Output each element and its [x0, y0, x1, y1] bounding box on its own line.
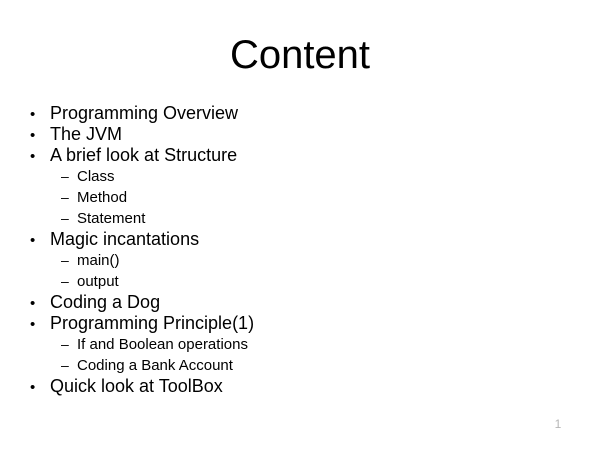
- list-item-label: The JVM: [50, 124, 122, 145]
- sub-list-item: –If and Boolean operations: [30, 334, 570, 355]
- list-item-label: Magic incantations: [50, 229, 199, 250]
- sub-list-item: –Class: [30, 166, 570, 187]
- list-item: •Quick look at ToolBox: [30, 376, 570, 397]
- dash-icon: –: [61, 271, 77, 292]
- bullet-icon: •: [30, 377, 50, 398]
- list-item-label: A brief look at Structure: [50, 145, 237, 166]
- list-item-label: Coding a Bank Account: [77, 355, 233, 376]
- list-item-label: If and Boolean operations: [77, 334, 248, 355]
- list-item-label: Programming Principle(1): [50, 313, 254, 334]
- list-item-label: output: [77, 271, 119, 292]
- page-title: Content: [0, 32, 600, 78]
- list-item: •Programming Principle(1): [30, 313, 570, 334]
- list-item: •A brief look at Structure: [30, 145, 570, 166]
- list-item-label: Quick look at ToolBox: [50, 376, 223, 397]
- list-item-label: Class: [77, 166, 115, 187]
- dash-icon: –: [61, 208, 77, 229]
- slide-page-number: 1: [548, 417, 568, 431]
- dash-icon: –: [61, 355, 77, 376]
- bullet-icon: •: [30, 293, 50, 314]
- presentation-slide: Content •Programming Overview•The JVM•A …: [0, 0, 600, 450]
- dash-icon: –: [61, 187, 77, 208]
- bullet-icon: •: [30, 125, 50, 146]
- list-item-label: Statement: [77, 208, 145, 229]
- content-outline-list: •Programming Overview•The JVM•A brief lo…: [30, 103, 570, 397]
- bullet-icon: •: [30, 104, 50, 125]
- sub-list-item: –Method: [30, 187, 570, 208]
- list-item: •Coding a Dog: [30, 292, 570, 313]
- list-item-label: Method: [77, 187, 127, 208]
- list-item-label: Programming Overview: [50, 103, 238, 124]
- list-item: •The JVM: [30, 124, 570, 145]
- bullet-icon: •: [30, 314, 50, 335]
- dash-icon: –: [61, 250, 77, 271]
- list-item-label: Coding a Dog: [50, 292, 160, 313]
- list-item: •Programming Overview: [30, 103, 570, 124]
- sub-list-item: –Statement: [30, 208, 570, 229]
- dash-icon: –: [61, 166, 77, 187]
- bullet-icon: •: [30, 230, 50, 251]
- sub-list-item: –output: [30, 271, 570, 292]
- bullet-icon: •: [30, 146, 50, 167]
- list-item-label: main(): [77, 250, 120, 271]
- dash-icon: –: [61, 334, 77, 355]
- list-item: •Magic incantations: [30, 229, 570, 250]
- sub-list-item: –main(): [30, 250, 570, 271]
- sub-list-item: –Coding a Bank Account: [30, 355, 570, 376]
